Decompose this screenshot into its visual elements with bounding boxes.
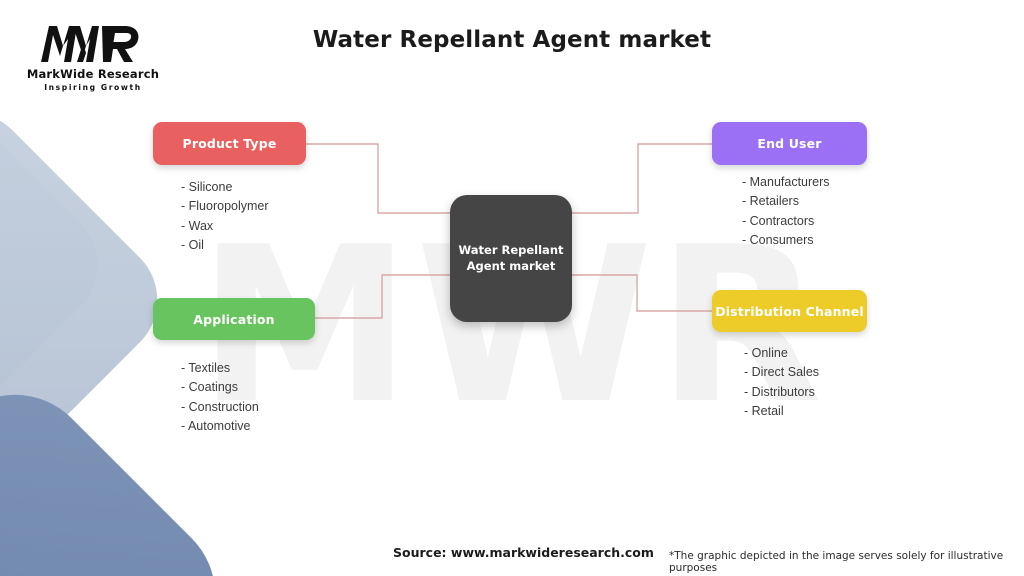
list-item: - Retailers [742,192,830,211]
node-distribution-channel-label: Distribution Channel [715,304,864,319]
list-item: - Online [744,344,819,363]
connector-distribution-channel [570,275,712,311]
list-end-user: - Manufacturers - Retailers - Contractor… [742,173,830,250]
list-product-type: - Silicone - Fluoropolymer - Wax - Oil [181,178,269,255]
source-text: Source: www.markwideresearch.com [393,545,654,560]
node-end-user-label: End User [757,136,821,151]
node-end-user[interactable]: End User [712,122,867,165]
list-item: - Direct Sales [744,363,819,382]
list-item: - Manufacturers [742,173,830,192]
list-item: - Oil [181,236,269,255]
list-item: - Retail [744,402,819,421]
list-item: - Textiles [181,359,259,378]
list-item: - Automotive [181,417,259,436]
list-item: - Consumers [742,231,830,250]
connector-application [315,275,452,318]
center-node[interactable]: Water Repellant Agent market [450,195,572,322]
connector-end-user [570,144,712,213]
disclaimer-text: *The graphic depicted in the image serve… [669,550,1024,574]
list-item: - Construction [181,398,259,417]
list-item: - Contractors [742,212,830,231]
node-product-type[interactable]: Product Type [153,122,306,165]
list-application: - Textiles - Coatings - Construction - A… [181,359,259,436]
list-item: - Wax [181,217,269,236]
list-item: - Coatings [181,378,259,397]
node-product-type-label: Product Type [183,136,277,151]
list-item: - Fluoropolymer [181,197,269,216]
connector-product-type [306,144,452,213]
center-node-label-line2: Agent market [467,259,556,273]
list-item: - Distributors [744,383,819,402]
list-distribution-channel: - Online - Direct Sales - Distributors -… [744,344,819,421]
list-item: - Silicone [181,178,269,197]
node-application[interactable]: Application [153,298,315,340]
node-application-label: Application [193,312,274,327]
center-node-label-line1: Water Repellant [458,243,563,257]
infographic-canvas: MWR MarkWide Research Inspiring Growth W… [0,0,1024,576]
node-distribution-channel[interactable]: Distribution Channel [712,290,867,332]
